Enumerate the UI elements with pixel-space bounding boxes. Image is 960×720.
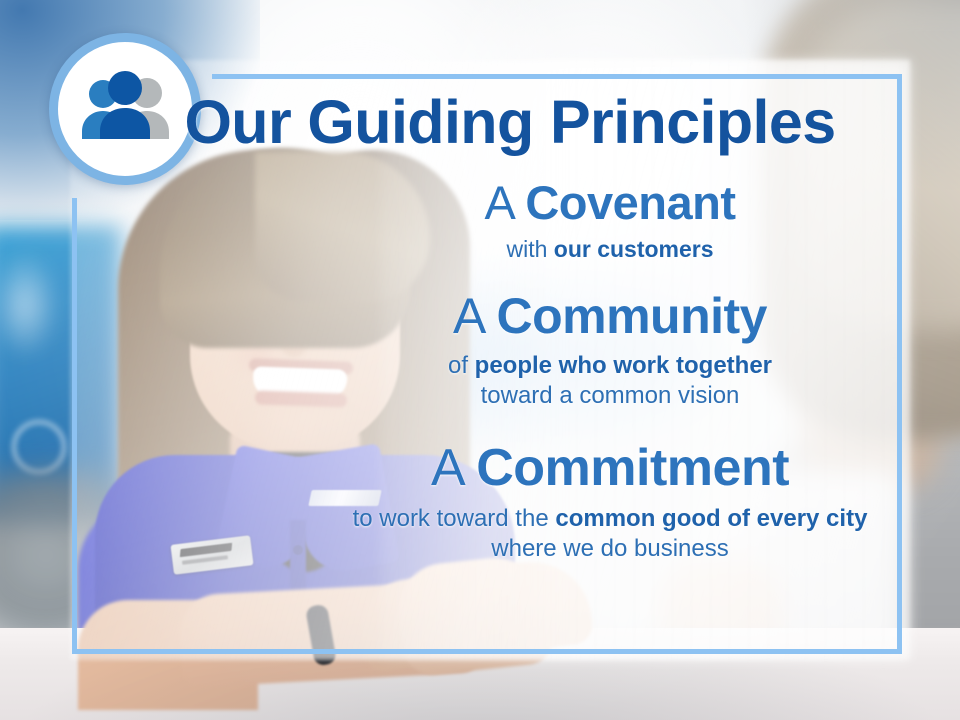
principle-commitment: A Commitment to work toward the common g… bbox=[330, 441, 890, 564]
subtext-plain-3: toward a common vision bbox=[481, 382, 740, 409]
principle-heading: A Commitment bbox=[330, 441, 890, 496]
principle-keyword: Covenant bbox=[525, 176, 735, 229]
subtext-bold-2: good of every city bbox=[662, 505, 867, 532]
principle-keyword: Community bbox=[496, 288, 767, 344]
principle-heading: A Community bbox=[330, 290, 890, 343]
principle-subtext: with our customers bbox=[330, 235, 890, 264]
principle-subtext: to work toward the common good of every … bbox=[330, 504, 890, 564]
subtext-plain-1: to work toward the bbox=[353, 505, 556, 532]
subtext-bold-1: our customers bbox=[554, 236, 714, 262]
principle-heading: A Covenant bbox=[330, 178, 890, 227]
principles-list: A Covenant with our customers A Communit… bbox=[330, 178, 890, 568]
principle-keyword: Commitment bbox=[476, 439, 789, 497]
subtext-plain-1: of bbox=[448, 352, 475, 379]
principle-community: A Community of people who work togethert… bbox=[330, 290, 890, 411]
principle-article: A bbox=[453, 288, 496, 344]
principle-subtext: of people who work togethertoward a comm… bbox=[330, 351, 890, 411]
principle-article: A bbox=[485, 176, 526, 229]
page-title: Our Guiding Principles bbox=[0, 92, 960, 153]
principle-article: A bbox=[431, 439, 476, 497]
subtext-plain-1: with bbox=[506, 236, 553, 262]
subtext-bold-1: common bbox=[555, 505, 655, 532]
guiding-principles-banner: Our Guiding Principles A Covenant with o… bbox=[0, 0, 960, 720]
principle-covenant: A Covenant with our customers bbox=[330, 178, 890, 264]
subtext-bold-1: people who work together bbox=[475, 352, 772, 379]
vignette-bottom bbox=[0, 600, 960, 720]
subtext-plain-3: where we do business bbox=[491, 535, 728, 562]
